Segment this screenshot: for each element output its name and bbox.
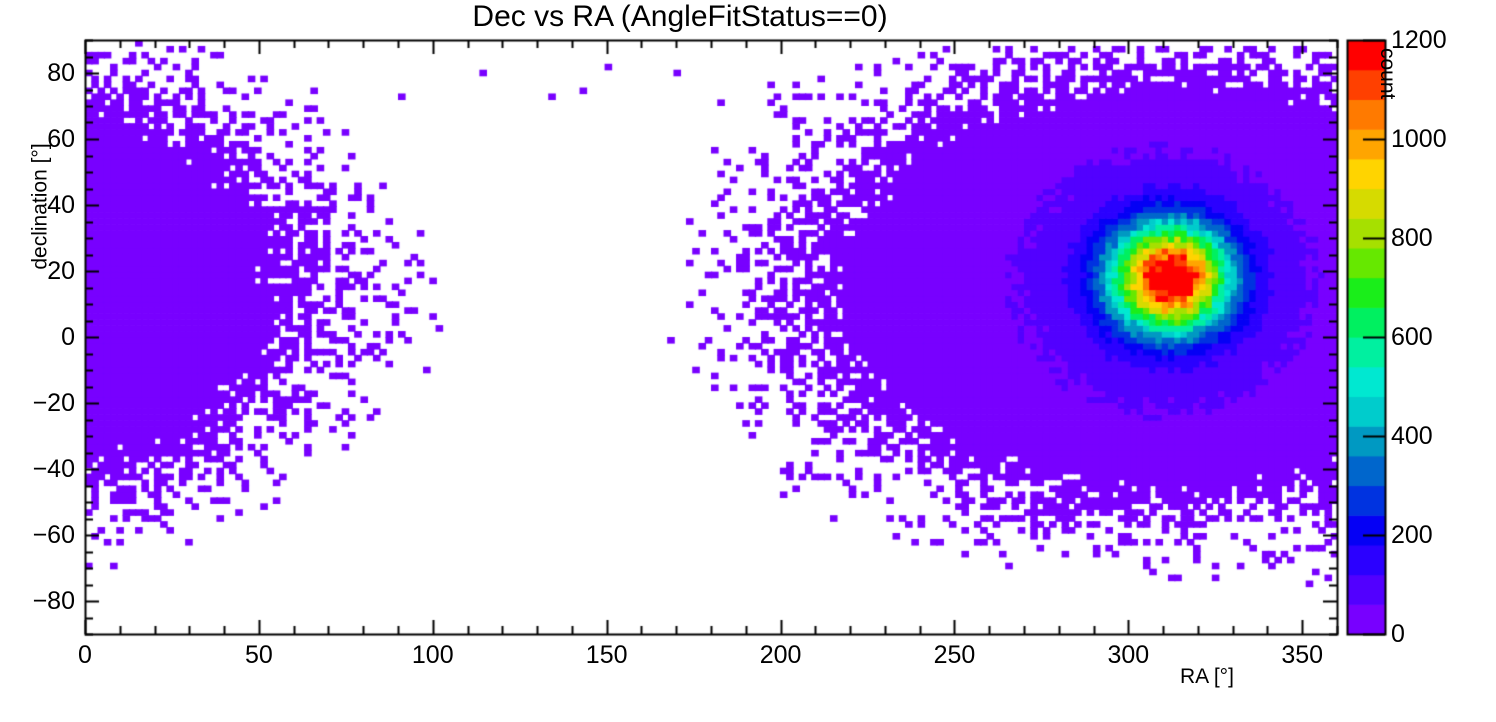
root-plot-container: Dec vs RA (AngleFitStatus==0) declinatio… bbox=[0, 0, 1496, 722]
dec-vs-ra-heatmap-canvas bbox=[0, 0, 1496, 722]
